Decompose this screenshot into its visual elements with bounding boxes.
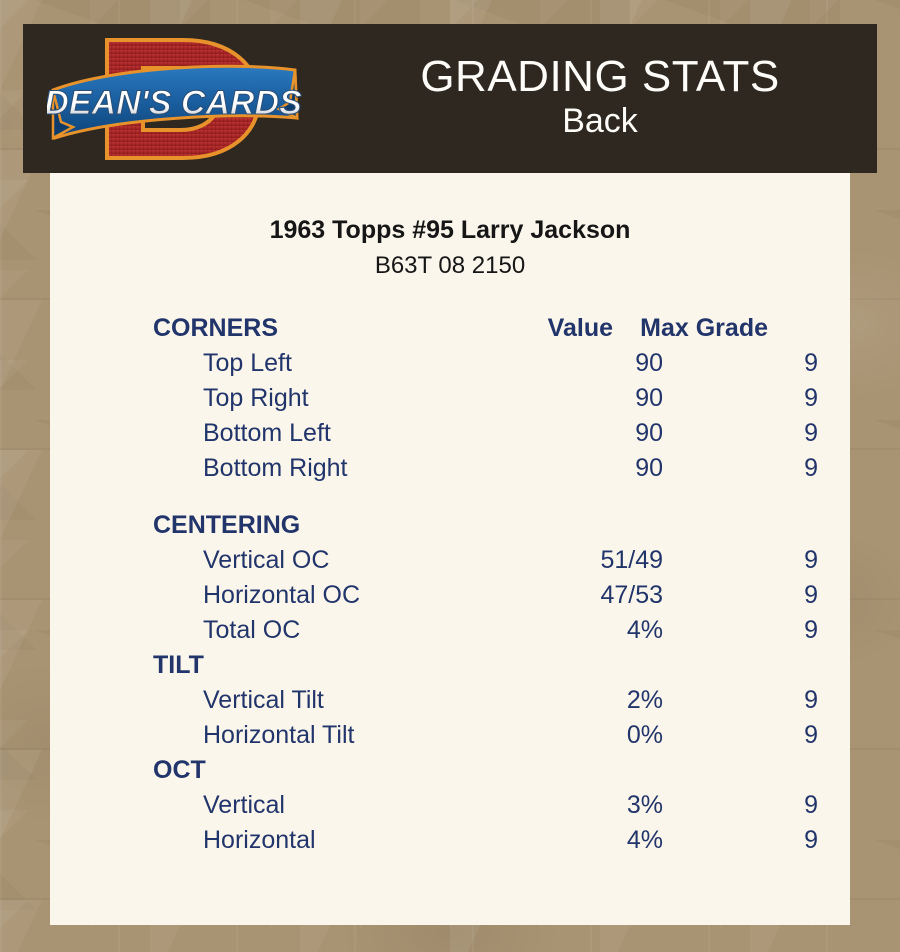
stat-value-top-left: 90 (538, 346, 663, 381)
table-row-vertical: Vertical3%9 (153, 788, 794, 823)
stat-value-horizontal-tilt: 0% (538, 718, 663, 753)
stats-panel: 1963 Topps #95 Larry Jackson B63T 08 215… (50, 173, 850, 925)
stat-max-grade-top-right: 9 (663, 381, 818, 416)
stat-value-top-right: 90 (538, 381, 663, 416)
section-label-tilt: TILT (153, 648, 488, 683)
column-header-value: Value (488, 311, 613, 346)
stat-max-grade-horizontal-oc: 9 (663, 578, 818, 613)
stat-value-bottom-left: 90 (538, 416, 663, 451)
stat-label-total-oc: Total OC (153, 613, 538, 648)
header-band: DEAN'S CARDS GRADING STATS Back (23, 24, 877, 173)
stat-label-top-left: Top Left (153, 346, 538, 381)
table-row-vertical-tilt: Vertical Tilt2%9 (153, 683, 794, 718)
section-header-row: OCT (153, 753, 794, 788)
logo-ribbon-text: DEAN'S CARDS (47, 84, 302, 122)
table-row-total-oc: Total OC4%9 (153, 613, 794, 648)
table-row-horizontal: Horizontal4%9 (153, 823, 794, 858)
stat-label-horizontal-oc: Horizontal OC (153, 578, 538, 613)
table-row-vertical-oc: Vertical OC51/499 (153, 543, 794, 578)
stat-label-vertical-tilt: Vertical Tilt (153, 683, 538, 718)
stat-label-vertical: Vertical (153, 788, 538, 823)
table-header-row: CORNERSValueMax Grade (153, 311, 794, 346)
table-row-bottom-left: Bottom Left909 (153, 416, 794, 451)
stat-max-grade-horizontal: 9 (663, 823, 818, 858)
stat-value-bottom-right: 90 (538, 451, 663, 486)
stat-max-grade-total-oc: 9 (663, 613, 818, 648)
stat-value-vertical-tilt: 2% (538, 683, 663, 718)
stat-max-grade-vertical: 9 (663, 788, 818, 823)
header-titles: GRADING STATS Back (323, 24, 877, 173)
stat-value-horizontal-oc: 47/53 (538, 578, 663, 613)
page-subtitle: Back (562, 100, 638, 143)
logo-ribbon: DEAN'S CARDS (47, 66, 302, 138)
section-header-row: CENTERING (153, 508, 794, 543)
section-header-row: TILT (153, 648, 794, 683)
stat-max-grade-horizontal-tilt: 9 (663, 718, 818, 753)
card-title: 1963 Topps #95 Larry Jackson (50, 215, 850, 245)
stat-max-grade-top-left: 9 (663, 346, 818, 381)
stat-label-horizontal-tilt: Horizontal Tilt (153, 718, 538, 753)
section-label-oct: OCT (153, 753, 488, 788)
stat-label-top-right: Top Right (153, 381, 538, 416)
table-row-top-left: Top Left909 (153, 346, 794, 381)
stat-max-grade-vertical-tilt: 9 (663, 683, 818, 718)
column-header-max-grade: Max Grade (613, 311, 768, 346)
stat-max-grade-bottom-left: 9 (663, 416, 818, 451)
section-label-centering: CENTERING (153, 508, 488, 543)
card-code: B63T 08 2150 (50, 252, 850, 281)
table-row-horizontal-tilt: Horizontal Tilt0%9 (153, 718, 794, 753)
stat-max-grade-vertical-oc: 9 (663, 543, 818, 578)
stat-value-total-oc: 4% (538, 613, 663, 648)
table-row-top-right: Top Right909 (153, 381, 794, 416)
deans-cards-logo[interactable]: DEAN'S CARDS (47, 26, 317, 171)
grading-stats-table: CORNERSValueMax GradeTop Left909Top Righ… (50, 311, 850, 858)
table-row-horizontal-oc: Horizontal OC47/539 (153, 578, 794, 613)
stat-value-vertical: 3% (538, 788, 663, 823)
stat-label-bottom-right: Bottom Right (153, 451, 538, 486)
column-header-corners: CORNERS (153, 311, 488, 346)
stat-value-horizontal: 4% (538, 823, 663, 858)
table-row-bottom-right: Bottom Right909 (153, 451, 794, 486)
page-title: GRADING STATS (420, 54, 779, 100)
stat-label-bottom-left: Bottom Left (153, 416, 538, 451)
stat-label-horizontal: Horizontal (153, 823, 538, 858)
stat-label-vertical-oc: Vertical OC (153, 543, 538, 578)
stat-max-grade-bottom-right: 9 (663, 451, 818, 486)
stat-value-vertical-oc: 51/49 (538, 543, 663, 578)
